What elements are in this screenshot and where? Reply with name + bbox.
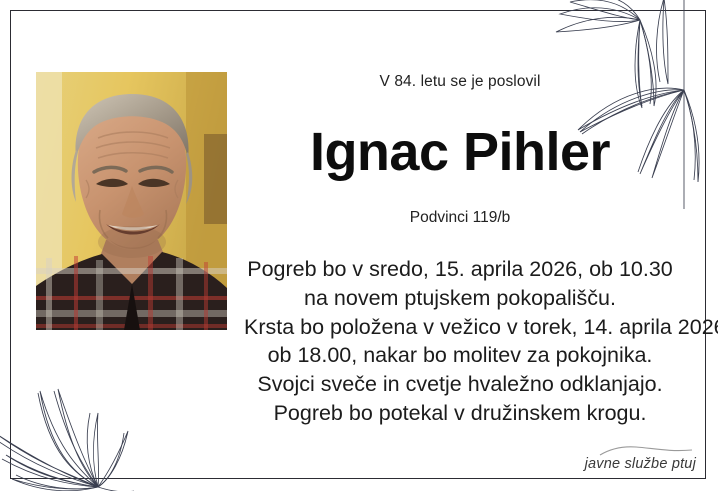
deceased-name: Ignac Pihler <box>244 122 676 182</box>
funeral-details: Pogreb bo v sredo, 15. aprila 2026, ob 1… <box>244 255 676 428</box>
provider-signature: javne službe ptuj <box>585 445 696 473</box>
detail-line: Krsta bo položena v vežico v torek, 14. … <box>244 313 676 342</box>
notice-text: V 84. letu se je poslovil Ignac Pihler P… <box>244 72 676 428</box>
obituary-notice: V 84. letu se je poslovil Ignac Pihler P… <box>0 0 718 491</box>
detail-line: Svojci sveče in cvetje hvaležno odklanja… <box>244 370 676 399</box>
preamble-text: V 84. letu se je poslovil <box>244 72 676 92</box>
detail-line: Pogreb bo v sredo, 15. aprila 2026, ob 1… <box>244 255 676 284</box>
portrait-photo <box>36 72 227 330</box>
address-text: Podvinci 119/b <box>244 208 676 228</box>
provider-name: javne službe ptuj <box>585 456 696 472</box>
detail-line: na novem ptujskem pokopališču. <box>244 284 676 313</box>
detail-line: Pogreb bo potekal v družinskem krogu. <box>244 399 676 428</box>
botanical-leaves-icon <box>0 355 158 491</box>
detail-line: ob 18.00, nakar bo molitev za pokojnika. <box>244 341 676 370</box>
